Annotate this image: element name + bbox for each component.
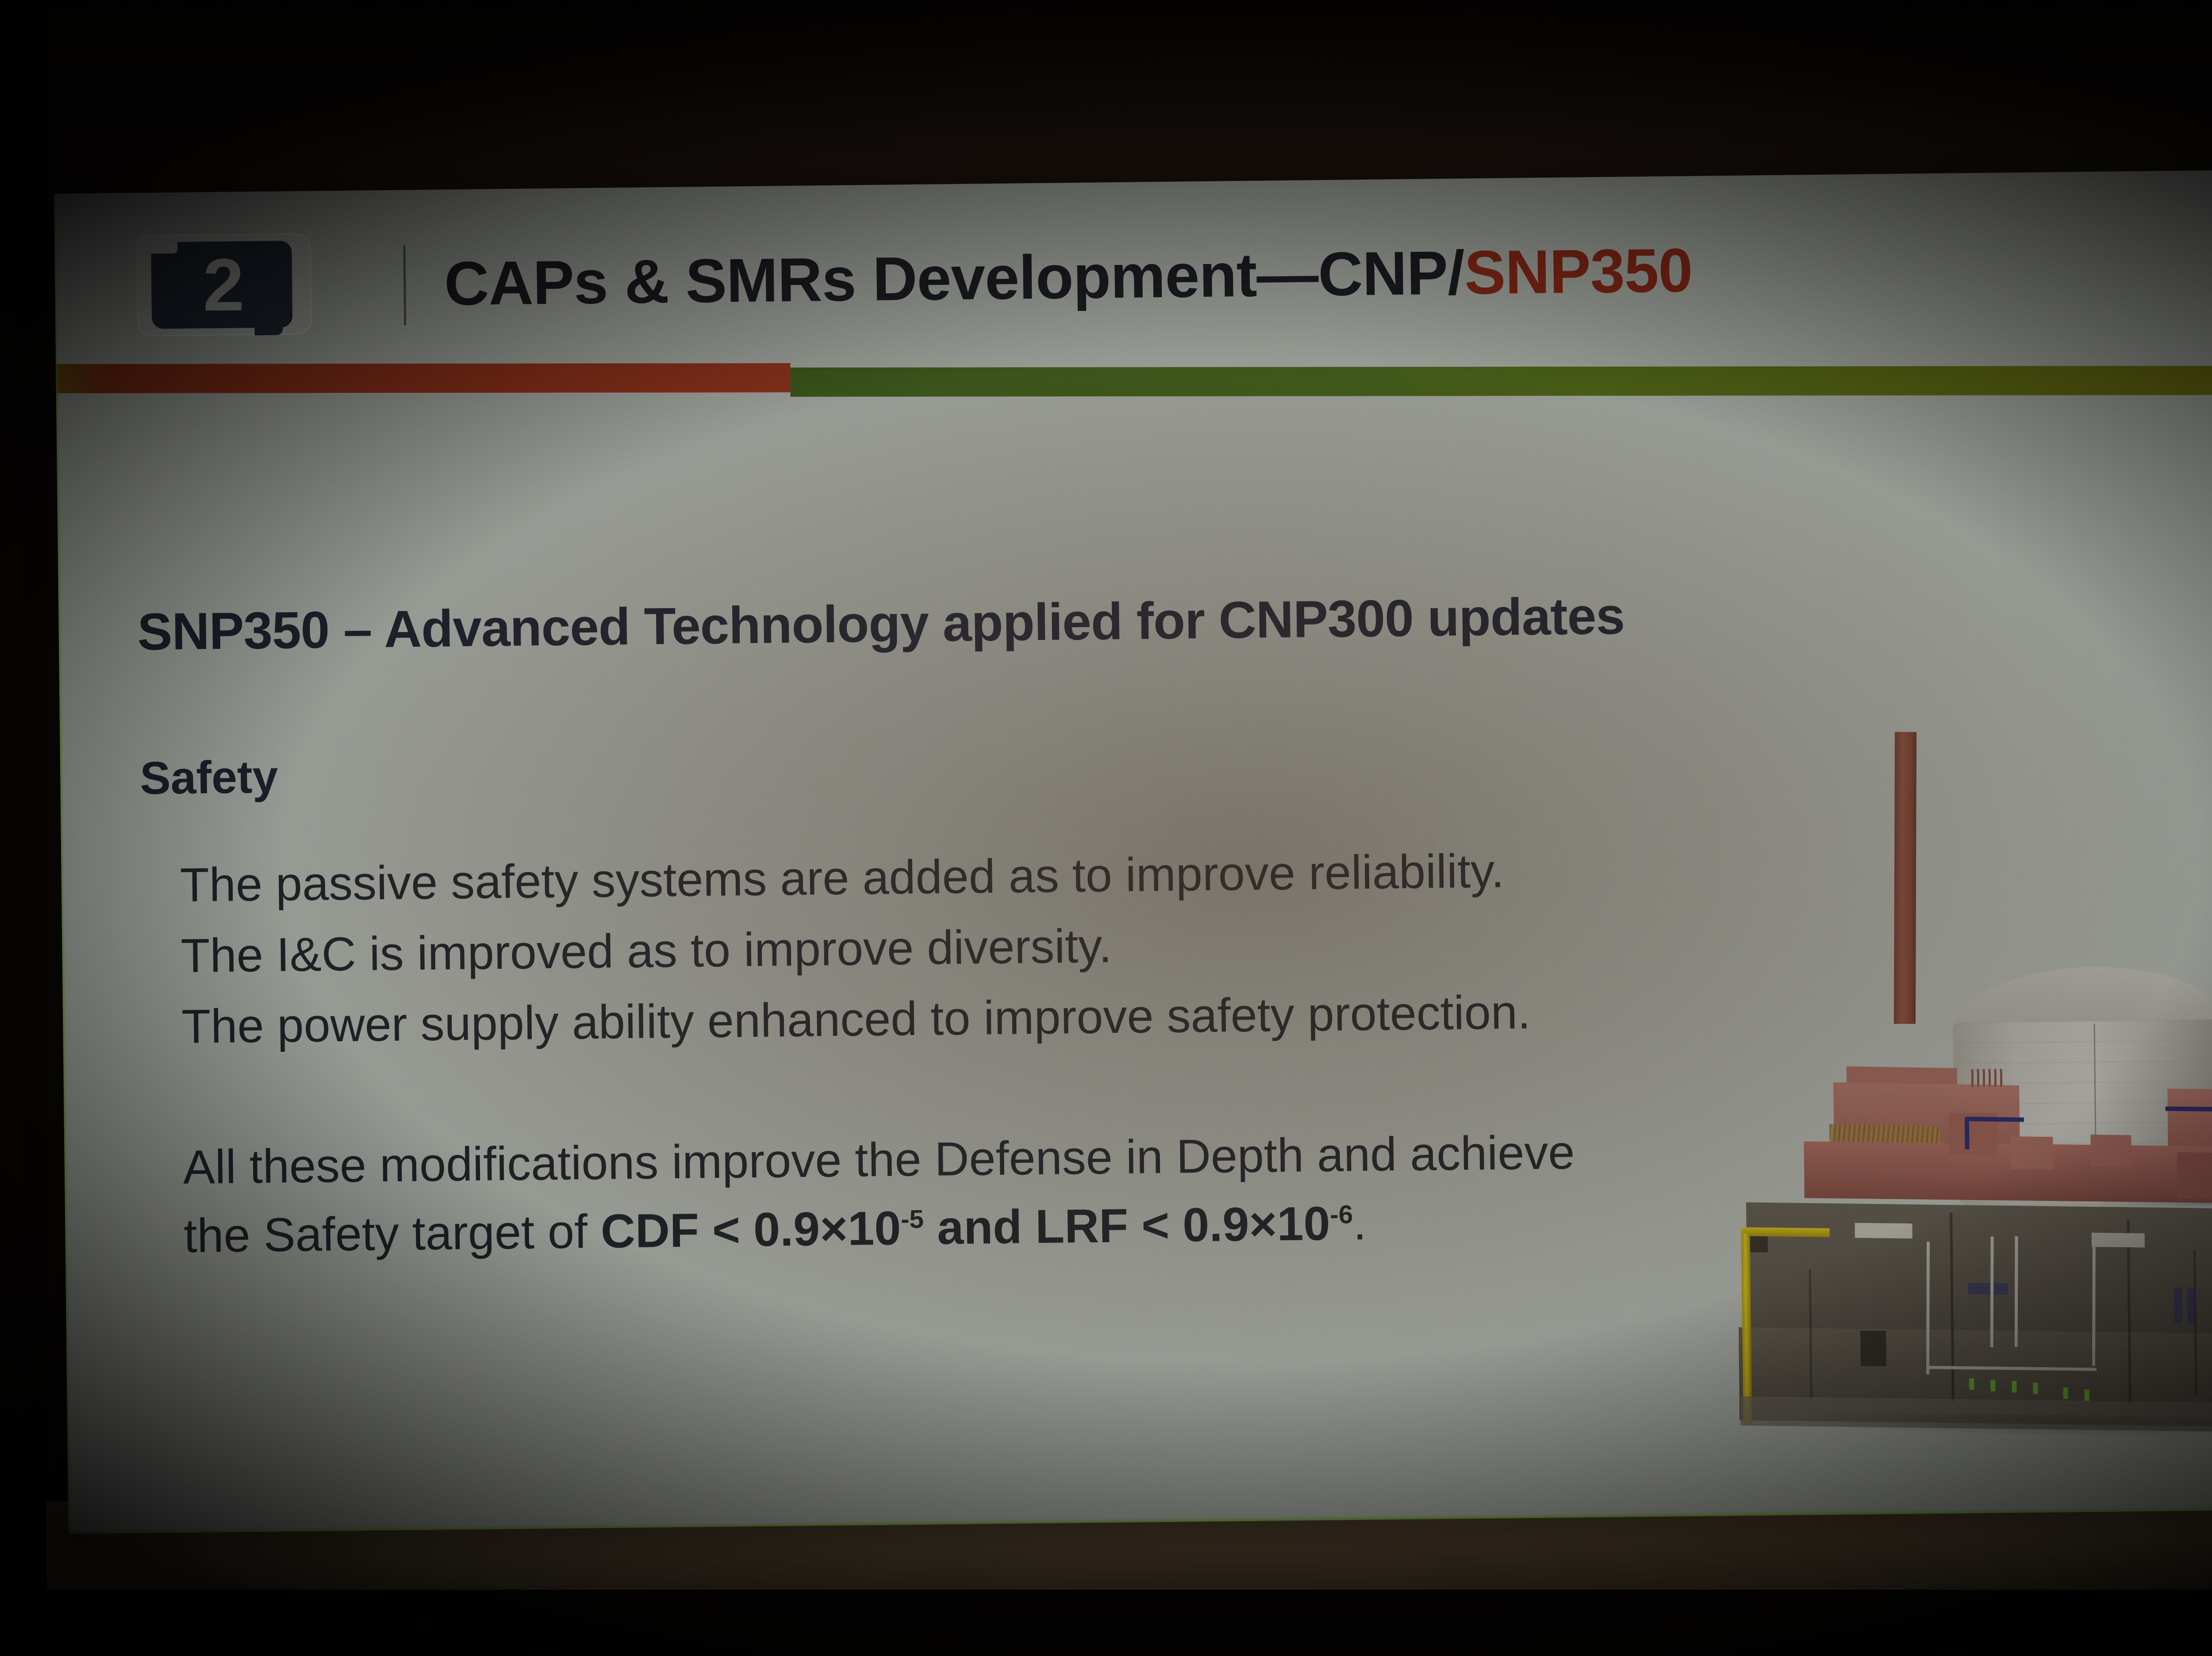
slide-body: Safety The passive safety systems are ad… bbox=[54, 168, 2212, 1534]
lrf-exponent: -6 bbox=[1330, 1200, 1353, 1229]
conclusion-conjunction: and bbox=[924, 1200, 1036, 1254]
projected-slide-photo: 2 CAPs & SMRs Development—CNP/SNP350 SNP… bbox=[0, 0, 2212, 1656]
dark-left-margin bbox=[0, 0, 49, 1656]
conclusion-line-2: the Safety target of CDF < 0.9×10-5 and … bbox=[184, 1199, 1367, 1260]
presentation-slide: 2 CAPs & SMRs Development—CNP/SNP350 SNP… bbox=[54, 168, 2212, 1534]
dark-bottom-margin bbox=[0, 1590, 2212, 1656]
body-line-2: The I&C is improved as to improve divers… bbox=[180, 922, 1112, 980]
body-line-3: The power supply ability enhanced to imp… bbox=[181, 988, 1531, 1050]
conclusion-prefix: the Safety target of bbox=[184, 1204, 601, 1262]
cdf-exponent: -5 bbox=[901, 1205, 924, 1234]
conclusion-line-1: All these modifications improve the Defe… bbox=[183, 1128, 1575, 1191]
section-heading-safety: Safety bbox=[140, 751, 278, 805]
conclusion-suffix: . bbox=[1353, 1196, 1367, 1250]
lrf-value: LRF < 0.9×10 bbox=[1035, 1196, 1331, 1253]
cdf-value: CDF < 0.9×10 bbox=[600, 1201, 901, 1257]
body-line-1: The passive safety systems are added as … bbox=[180, 847, 1504, 909]
